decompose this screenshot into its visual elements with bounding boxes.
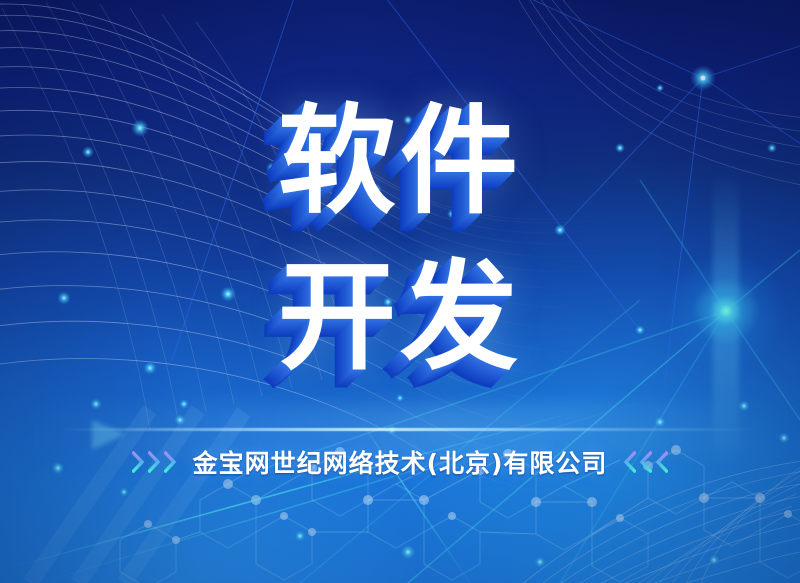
chevron-right-icon [132, 451, 145, 473]
subtitle-row: 金宝网世纪网络技术(北京)有限公司 [0, 444, 800, 480]
chevron-left-icon [639, 451, 652, 473]
company-name: 金宝网世纪网络技术(北京)有限公司 [193, 444, 608, 480]
chevron-right-icon [148, 451, 161, 473]
left-chevrons [132, 451, 177, 473]
chevron-right-icon [164, 451, 177, 473]
page-title: 软件 开发 [0, 96, 800, 382]
right-chevrons [623, 451, 668, 473]
chevron-left-icon [655, 451, 668, 473]
title-line-1: 软件 [0, 96, 800, 226]
software-development-banner: 软件 开发 金宝网世纪网络技术(北京)有限公司 [0, 0, 800, 583]
chevron-left-icon [623, 451, 636, 473]
title-line-2: 开发 [0, 252, 800, 382]
